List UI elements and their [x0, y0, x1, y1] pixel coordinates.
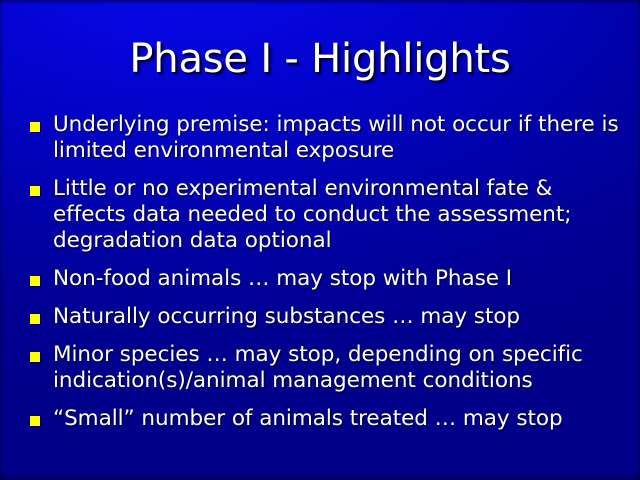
bullet-item-label: Naturally occurring substances … may sto… [53, 304, 620, 330]
bullet-list: Underlying premise: impacts will not occ… [28, 112, 620, 432]
bullet-item-label: Underlying premise: impacts will not occ… [53, 112, 620, 164]
bullet-item-label: Little or no experimental environmental … [53, 176, 620, 254]
bullet-item: “Small” number of animals treated … may … [28, 406, 620, 432]
bullet-item: Minor species … may stop, depending on s… [28, 342, 620, 394]
bullet-item: Little or no experimental environmental … [28, 176, 620, 254]
bullet-item: Naturally occurring substances … may sto… [28, 304, 620, 330]
bullet-item: Non-food animals … may stop with Phase I [28, 266, 620, 292]
presentation-slide: Phase I - Highlights Underlying premise:… [0, 0, 640, 480]
square-bullet-icon [30, 314, 40, 324]
square-bullet-icon [30, 416, 40, 426]
bullet-item-label: Non-food animals … may stop with Phase I [53, 266, 620, 292]
slide-title: Phase I - Highlights [0, 36, 640, 82]
bullet-item-label: Minor species … may stop, depending on s… [53, 342, 620, 394]
square-bullet-icon [30, 352, 40, 362]
square-bullet-icon [30, 276, 40, 286]
square-bullet-icon [30, 122, 40, 132]
square-bullet-icon [30, 186, 40, 196]
bullet-item: Underlying premise: impacts will not occ… [28, 112, 620, 164]
bullet-item-label: “Small” number of animals treated … may … [53, 406, 620, 432]
slide-content: Phase I - Highlights Underlying premise:… [0, 0, 640, 480]
